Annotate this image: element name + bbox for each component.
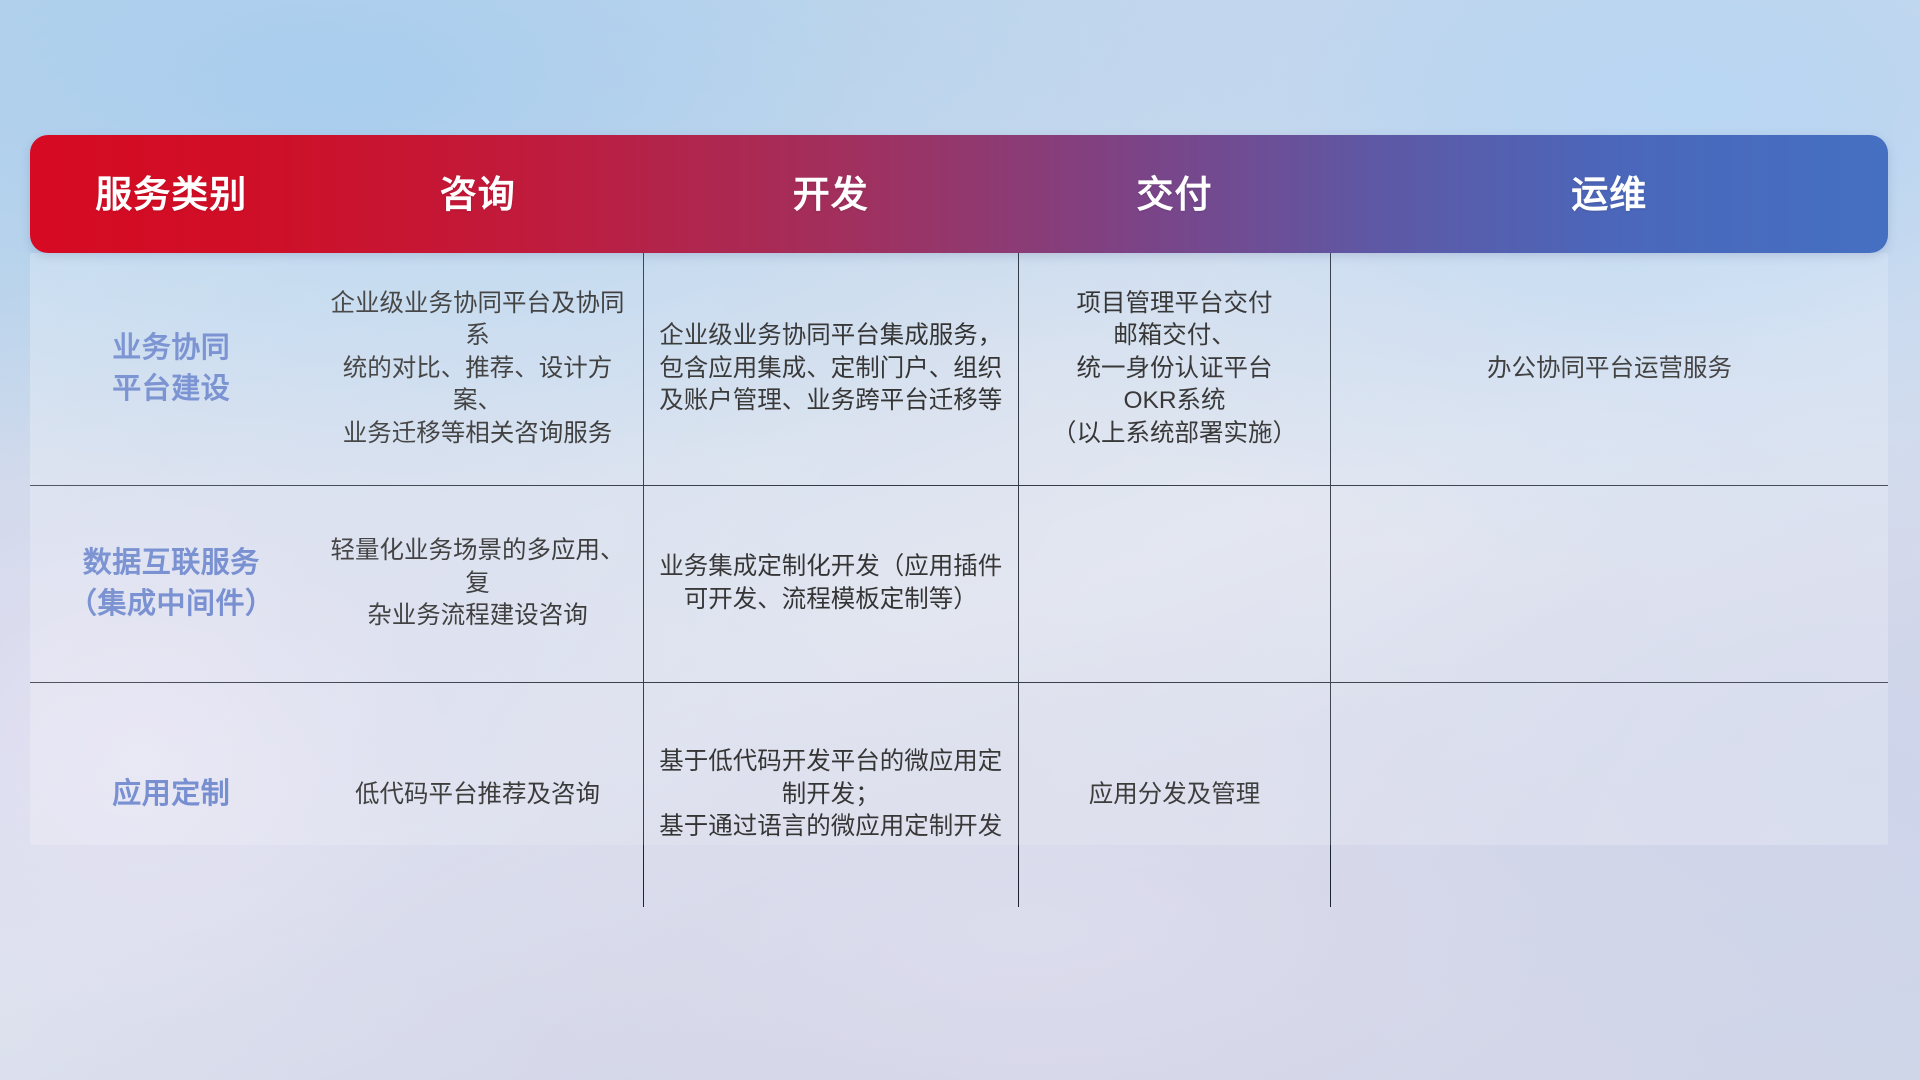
column-header-consulting[interactable]: 咨询 [312,176,643,213]
table-header-bar-cell: 服务类别 咨询 开发 交付 运维 [30,135,1888,253]
service-category-table: 服务类别 咨询 开发 交付 运维 业务协同 平台建设 企业级业务协同平台及协同系… [30,135,1888,907]
cell-delivery-3: 应用分发及管理 [1018,683,1330,908]
cell-delivery-2 [1018,486,1330,683]
cell-consulting-3: 低代码平台推荐及咨询 [312,683,643,908]
cell-category-3: 应用定制 [30,683,312,908]
cell-consulting-1: 企业级业务协同平台及协同系 统的对比、推荐、设计方案、 业务迁移等相关咨询服务 [312,253,643,486]
table-row: 数据互联服务 （集成中间件） 轻量化业务场景的多应用、复 杂业务流程建设咨询 业… [30,486,1888,683]
table-header: 服务类别 咨询 开发 交付 运维 [30,135,1888,253]
cell-consulting-2: 轻量化业务场景的多应用、复 杂业务流程建设咨询 [312,486,643,683]
table-header-row: 服务类别 咨询 开发 交付 运维 [30,135,1888,253]
service-matrix: 服务类别 咨询 开发 交付 运维 业务协同 平台建设 企业级业务协同平台及协同系… [30,135,1888,907]
cell-category-2: 数据互联服务 （集成中间件） [30,486,312,683]
cell-development-1: 企业级业务协同平台集成服务， 包含应用集成、定制门户、组织 及账户管理、业务跨平… [643,253,1018,486]
column-header-operations[interactable]: 运维 [1331,176,1888,213]
column-header-delivery[interactable]: 交付 [1018,176,1330,213]
column-header-category[interactable]: 服务类别 [30,176,312,213]
cell-category-1: 业务协同 平台建设 [30,253,312,486]
header-gradient-bar: 服务类别 咨询 开发 交付 运维 [30,135,1888,253]
cell-operations-3 [1331,683,1888,908]
cell-delivery-1: 项目管理平台交付 邮箱交付、 统一身份认证平台 OKR系统 （以上系统部署实施） [1018,253,1330,486]
cell-development-2: 业务集成定制化开发（应用插件 可开发、流程模板定制等） [643,486,1018,683]
cell-development-3: 基于低代码开发平台的微应用定 制开发； 基于通过语言的微应用定制开发 [643,683,1018,908]
cell-operations-2 [1331,486,1888,683]
table-row: 应用定制 低代码平台推荐及咨询 基于低代码开发平台的微应用定 制开发； 基于通过… [30,683,1888,908]
cell-operations-1: 办公协同平台运营服务 [1331,253,1888,486]
column-header-development[interactable]: 开发 [643,176,1018,213]
table-body: 业务协同 平台建设 企业级业务协同平台及协同系 统的对比、推荐、设计方案、 业务… [30,253,1888,907]
table-row: 业务协同 平台建设 企业级业务协同平台及协同系 统的对比、推荐、设计方案、 业务… [30,253,1888,486]
